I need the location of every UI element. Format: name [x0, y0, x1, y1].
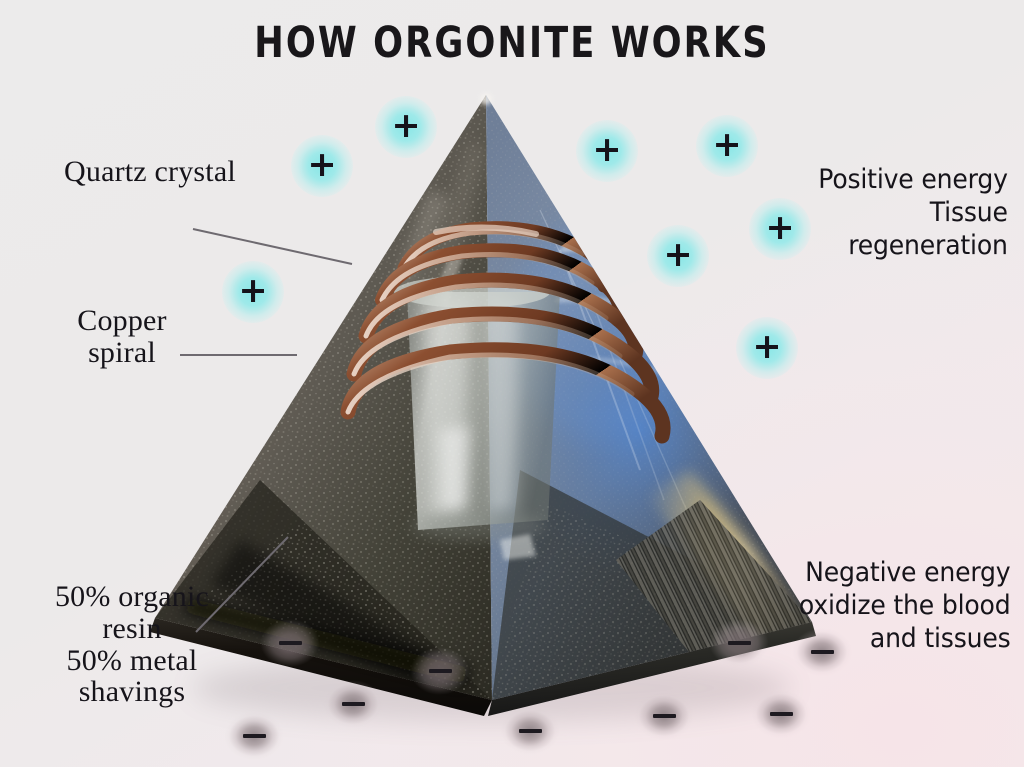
label-line: shavings — [22, 676, 242, 708]
label-line: Quartz crystal — [64, 156, 236, 188]
positive-charge-icon: + — [749, 198, 811, 260]
negative-charge-icon — [409, 640, 471, 702]
positive-charge-icon: + — [736, 317, 798, 379]
negative-symbol — [728, 641, 751, 645]
orgonite-infographic: HOW ORGONITE WORKS — [0, 0, 1024, 767]
negative-symbol — [519, 729, 542, 733]
label-line: Copper — [47, 305, 197, 337]
positive-symbol: + — [592, 133, 621, 168]
positive-charge-icon: + — [696, 115, 758, 177]
apex-highlight — [480, 93, 492, 105]
positive-symbol: + — [238, 274, 267, 309]
negative-symbol — [279, 641, 302, 645]
label-positive-energy: Positive energy Tissue regeneration — [819, 164, 1008, 263]
negative-charge-icon — [322, 673, 384, 735]
label-copper-spiral: Copper spiral — [47, 305, 197, 369]
negative-charge-icon — [259, 612, 321, 674]
negative-charge-icon — [633, 685, 695, 747]
negative-symbol — [342, 702, 365, 706]
negative-symbol — [653, 714, 676, 718]
negative-charge-icon — [708, 612, 770, 674]
negative-symbol — [811, 650, 834, 654]
label-resin-composition: 50% organic resin 50% metal shavings — [22, 581, 242, 708]
positive-symbol: + — [712, 128, 741, 163]
positive-charge-icon: + — [375, 96, 437, 158]
negative-symbol — [243, 734, 266, 738]
positive-charge-icon: + — [222, 261, 284, 323]
negative-symbol — [429, 669, 452, 673]
label-line: spiral — [47, 337, 197, 369]
positive-charge-icon: + — [576, 120, 638, 182]
positive-symbol: + — [307, 148, 336, 183]
label-line: 50% metal — [22, 645, 242, 677]
positive-charge-icon: + — [647, 225, 709, 287]
label-line: resin — [22, 613, 242, 645]
negative-symbol — [770, 712, 793, 716]
negative-charge-icon — [750, 683, 812, 745]
label-line: regeneration — [819, 230, 1008, 263]
negative-charge-icon — [499, 700, 561, 762]
positive-symbol: + — [663, 238, 692, 273]
label-line: oxidize the blood — [798, 590, 1010, 623]
label-line: Negative energy — [798, 557, 1010, 590]
label-line: Tissue — [819, 197, 1008, 230]
label-line: 50% organic — [22, 581, 242, 613]
positive-symbol: + — [391, 109, 420, 144]
positive-symbol: + — [765, 211, 794, 246]
positive-symbol: + — [752, 330, 781, 365]
negative-charge-icon — [223, 705, 285, 767]
label-negative-energy: Negative energy oxidize the blood and ti… — [798, 557, 1010, 656]
label-quartz-crystal: Quartz crystal — [64, 156, 236, 188]
positive-charge-icon: + — [291, 135, 353, 197]
label-line: Positive energy — [819, 164, 1008, 197]
